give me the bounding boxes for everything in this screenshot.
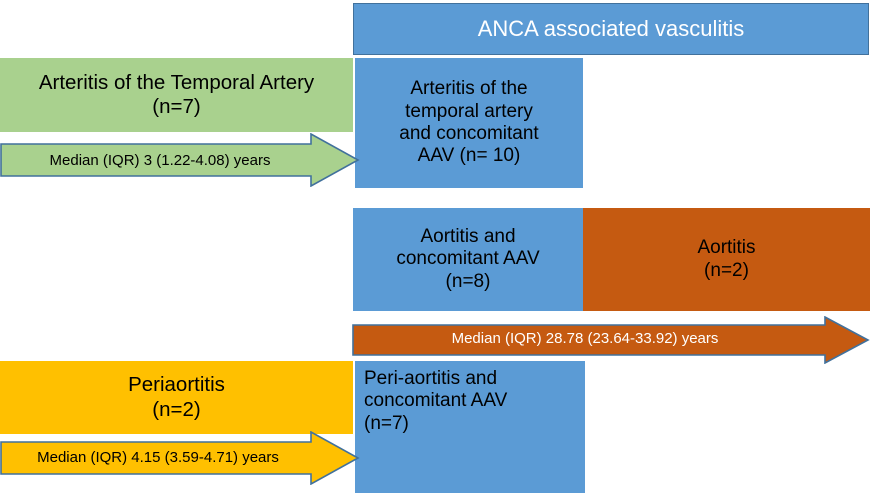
diagram-canvas: ANCA associated vasculitis Arteritis of … bbox=[0, 0, 870, 493]
box-peri-aortitis-concomitant-aav: Peri-aortitis and concomitant AAV (n=7) bbox=[355, 361, 585, 493]
box-arteritis-temporal-artery-concomitant-aav: Arteritis of the temporal artery and con… bbox=[355, 58, 583, 188]
arrow-yellow-shape bbox=[0, 431, 360, 485]
box-aortitis-concomitant-aav: Aortitis and concomitant AAV (n=8) bbox=[353, 208, 583, 311]
arrow-aortitis-to-aav bbox=[352, 316, 870, 364]
arrow-green-shape bbox=[0, 133, 360, 187]
box-periaortitis: Periaortitis (n=2) bbox=[0, 361, 353, 434]
arrow-orange-shape bbox=[352, 316, 870, 364]
arrow-temporal-artery-to-aav bbox=[0, 133, 360, 187]
box-aortitis: Aortitis (n=2) bbox=[583, 208, 870, 311]
arrow-periaortitis-to-aav bbox=[0, 431, 360, 485]
box-arteritis-temporal-artery: Arteritis of the Temporal Artery (n=7) bbox=[0, 58, 353, 132]
banner-anca-associated-vasculitis: ANCA associated vasculitis bbox=[353, 3, 869, 55]
